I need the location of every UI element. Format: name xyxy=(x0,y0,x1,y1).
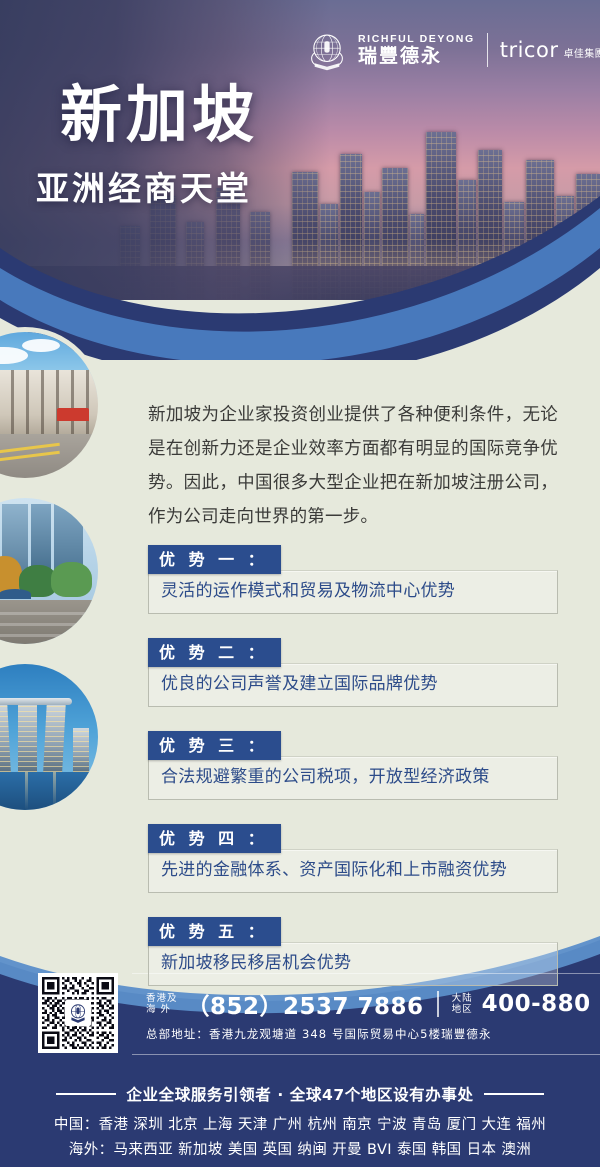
qr-center-logo-icon xyxy=(65,1000,91,1026)
advantage-badge-4: 优 势 四 ： xyxy=(148,824,281,853)
regions-china: 中国：香港 深圳 北京 上海 天津 广州 杭州 南京 宁波 青岛 厦门 大连 福… xyxy=(0,1113,600,1138)
headquarters-address: 总部地址：香港九龙观塘道 348 号国际贸易中心5楼瑞豐德永 xyxy=(146,1026,600,1042)
advantage-badge-5: 优 势 五 ： xyxy=(148,917,281,946)
tagline-rule-right xyxy=(484,1093,544,1095)
hero-title: 新加坡 xyxy=(60,82,258,148)
intro-paragraph: 新加坡为企业家投资创业提供了各种便利条件，无论是在创新力还是企业效率方面都有明显… xyxy=(148,398,558,534)
tagline-text: 企业全球服务引领者 · 全球47个地区设有办事处 xyxy=(126,1083,473,1105)
phone-row: 香港及 海 外 （852）2537 7886 大陆 地区 400-880 809… xyxy=(146,987,600,1021)
brand-logo: RICHFUL DEYONG 瑞豐德永 tricor 卓佳集團成員 xyxy=(305,28,600,72)
phone-hk-label: 香港及 海 外 xyxy=(146,993,178,1015)
partner-logo-tricor: tricor xyxy=(500,40,559,61)
advantage-badge-1: 优 势 一 ： xyxy=(148,545,281,574)
advantages-list: 优 势 一 ： 灵活的运作模式和贸易及物流中心优势 优 势 二 ： 优良的公司声… xyxy=(148,545,558,986)
regions-block: 中国：香港 深圳 北京 上海 天津 广州 杭州 南京 宁波 青岛 厦门 大连 福… xyxy=(0,1113,600,1163)
advantage-item-2: 优 势 二 ： 优良的公司声誉及建立国际品牌优势 xyxy=(148,638,558,707)
photo-river-greenery xyxy=(0,498,98,644)
phone-cn-number[interactable]: 400-880 8098 xyxy=(482,991,600,1017)
advantage-text-4: 先进的金融体系、资产国际化和上市融资优势 xyxy=(148,849,558,893)
hero-subtitle: 亚洲经商天堂 xyxy=(36,170,252,208)
logo-english-name: RICHFUL DEYONG xyxy=(358,33,475,45)
globe-wreath-emblem-icon xyxy=(305,28,349,72)
advantage-badge-2: 优 势 二 ： xyxy=(148,638,281,667)
advantage-text-1: 灵活的运作模式和贸易及物流中心优势 xyxy=(148,570,558,614)
partner-chinese-label: 卓佳集團成員 xyxy=(563,48,600,61)
advantage-item-5: 优 势 五 ： 新加坡移民移居机会优势 xyxy=(148,917,558,986)
photo-marina-bay-sands xyxy=(0,664,98,810)
advantage-text-2: 优良的公司声誉及建立国际品牌优势 xyxy=(148,663,558,707)
tagline-rule-left xyxy=(56,1093,116,1095)
logo-divider xyxy=(487,33,488,67)
advantage-item-1: 优 势 一 ： 灵活的运作模式和贸易及物流中心优势 xyxy=(148,545,558,614)
phone-divider xyxy=(437,991,439,1017)
photo-shophouse-street xyxy=(0,332,98,478)
poster-root: RICHFUL DEYONG 瑞豐德永 tricor 卓佳集團成員 新加坡 亚洲… xyxy=(0,0,600,1167)
advantage-badge-3: 优 势 三 ： xyxy=(148,731,281,760)
advantage-item-3: 优 势 三 ： 合法规避繁重的公司税项，开放型经济政策 xyxy=(148,731,558,800)
phone-hk-number[interactable]: （852）2537 7886 xyxy=(187,987,424,1021)
tagline-row: 企业全球服务引领者 · 全球47个地区设有办事处 xyxy=(0,1083,600,1105)
emblem-small-icon xyxy=(67,1002,89,1024)
logo-chinese-name: 瑞豐德永 xyxy=(358,45,475,67)
advantage-text-3: 合法规避繁重的公司税项，开放型经济政策 xyxy=(148,756,558,800)
phone-cn-label: 大陆 地区 xyxy=(452,993,473,1015)
advantage-text-5: 新加坡移民移居机会优势 xyxy=(148,942,558,986)
regions-overseas: 海外：马来西亚 新加坡 美国 英国 纳闽 开曼 BVI 泰国 韩国 日本 澳洲 xyxy=(0,1138,600,1163)
advantage-item-4: 优 势 四 ： 先进的金融体系、资产国际化和上市融资优势 xyxy=(148,824,558,893)
qr-code-icon[interactable] xyxy=(38,973,118,1053)
